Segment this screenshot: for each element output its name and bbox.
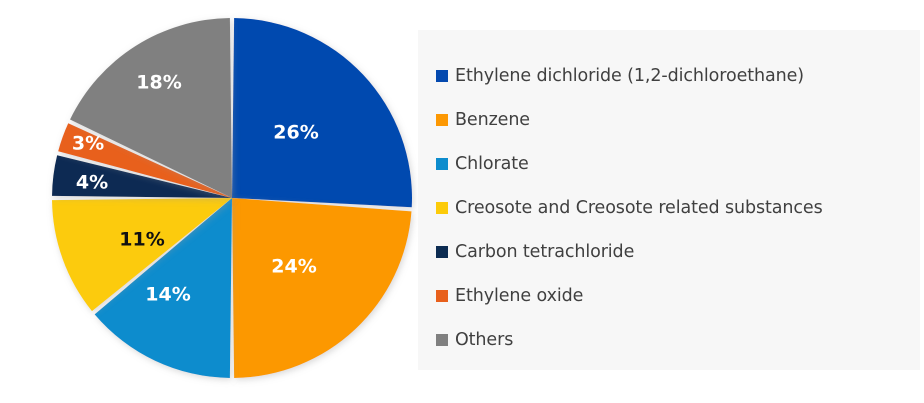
- pie-slice-label: 11%: [119, 229, 164, 251]
- pie-slice-label: 14%: [145, 284, 190, 306]
- pie-slice[interactable]: [232, 198, 412, 378]
- pie-slice-label: 4%: [76, 172, 108, 194]
- pie-chart-figure: 26%24%14%11%4%3%18% Ethylene dichloride …: [0, 0, 924, 403]
- legend-item[interactable]: Chlorate: [428, 142, 910, 186]
- legend-swatch-icon: [436, 334, 448, 346]
- legend-item-label: Chlorate: [455, 154, 529, 174]
- legend-item[interactable]: Ethylene dichloride (1,2-dichloroethane): [428, 54, 910, 98]
- pie-slice-label: 26%: [273, 122, 318, 144]
- legend-item[interactable]: Others: [428, 318, 910, 362]
- pie-chart-svg: 26%24%14%11%4%3%18%: [0, 0, 418, 403]
- chart-legend: Ethylene dichloride (1,2-dichloroethane)…: [418, 30, 920, 370]
- legend-swatch-icon: [436, 70, 448, 82]
- legend-swatch-icon: [436, 246, 448, 258]
- legend-item-label: Creosote and Creosote related substances: [455, 198, 823, 218]
- legend-swatch-icon: [436, 114, 448, 126]
- legend-item[interactable]: Carbon tetrachloride: [428, 230, 910, 274]
- pie-slice-label: 18%: [136, 72, 181, 94]
- pie-slice-label: 3%: [72, 133, 104, 155]
- legend-item-label: Carbon tetrachloride: [455, 242, 634, 262]
- pie-chart-plot-area: 26%24%14%11%4%3%18%: [0, 0, 418, 403]
- legend-item-label: Benzene: [455, 110, 530, 130]
- pie-slices: [52, 18, 412, 378]
- legend-swatch-icon: [436, 202, 448, 214]
- pie-slice-label: 24%: [271, 256, 316, 278]
- legend-swatch-icon: [436, 158, 448, 170]
- legend-item[interactable]: Ethylene oxide: [428, 274, 910, 318]
- legend-swatch-icon: [436, 290, 448, 302]
- legend-item-label: Ethylene dichloride (1,2-dichloroethane): [455, 66, 804, 86]
- legend-item-label: Ethylene oxide: [455, 286, 583, 306]
- legend-item[interactable]: Creosote and Creosote related substances: [428, 186, 910, 230]
- pie-slice[interactable]: [232, 18, 412, 207]
- legend-item[interactable]: Benzene: [428, 98, 910, 142]
- legend-item-label: Others: [455, 330, 513, 350]
